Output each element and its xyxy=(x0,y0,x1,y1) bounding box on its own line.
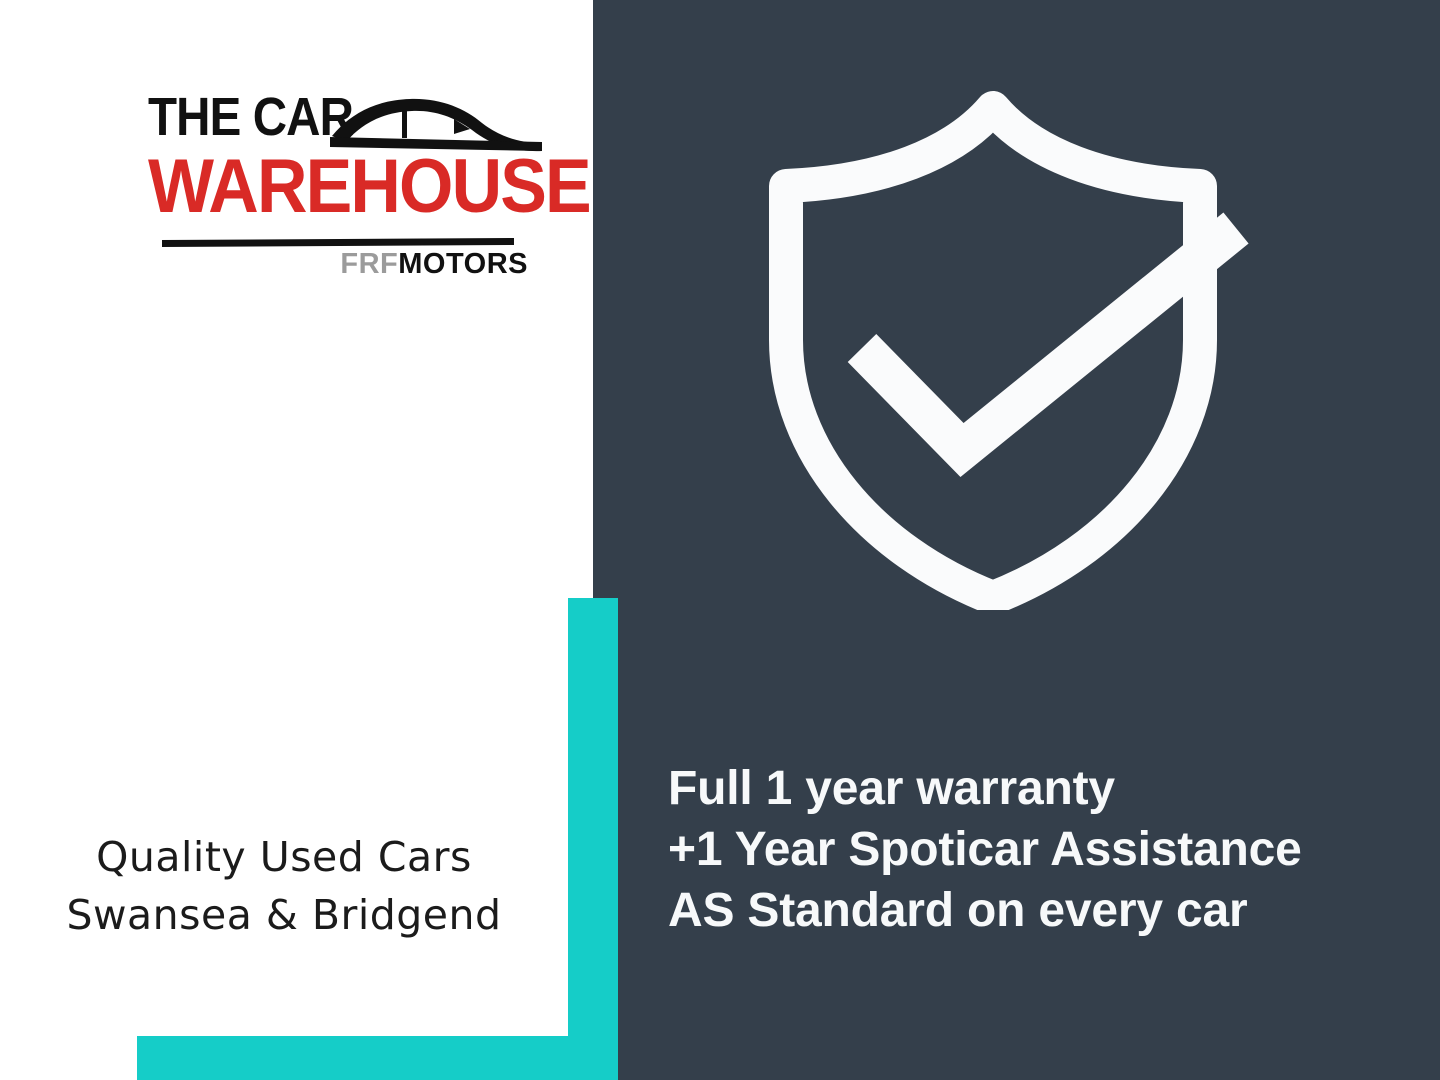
accent-bar-vertical xyxy=(568,598,618,1080)
logo-line-warehouse: WAREHOUSE xyxy=(148,146,590,228)
tagline-line-2: Swansea & Bridgend xyxy=(0,886,568,944)
headline-line-3: AS Standard on every car xyxy=(668,880,1408,941)
headline-line-1: Full 1 year warranty xyxy=(668,758,1408,819)
logo-line-the-car: THE CAR xyxy=(148,88,353,146)
logo-sub-brand: FRFMOTORS xyxy=(340,248,528,281)
logo-sub-frf: FRF xyxy=(340,248,398,280)
logo-sub-motors: MOTORS xyxy=(398,248,528,280)
brand-tagline: Quality Used Cars Swansea & Bridgend xyxy=(0,828,568,944)
headline-line-2: +1 Year Spoticar Assistance xyxy=(668,819,1408,880)
accent-bar-horizontal xyxy=(137,1036,618,1080)
logo-underline-rule xyxy=(162,238,514,247)
shield-check-icon xyxy=(758,90,1288,610)
tagline-line-1: Quality Used Cars xyxy=(0,828,568,886)
promo-headline: Full 1 year warranty +1 Year Spoticar As… xyxy=(668,758,1408,941)
brand-logo: THE CAR WAREHOUSE FRFMOTORS xyxy=(148,88,528,288)
promo-banner: THE CAR WAREHOUSE FRFMOTORS Quality Used… xyxy=(0,0,1440,1080)
logo-top-row: THE CAR xyxy=(148,88,528,150)
